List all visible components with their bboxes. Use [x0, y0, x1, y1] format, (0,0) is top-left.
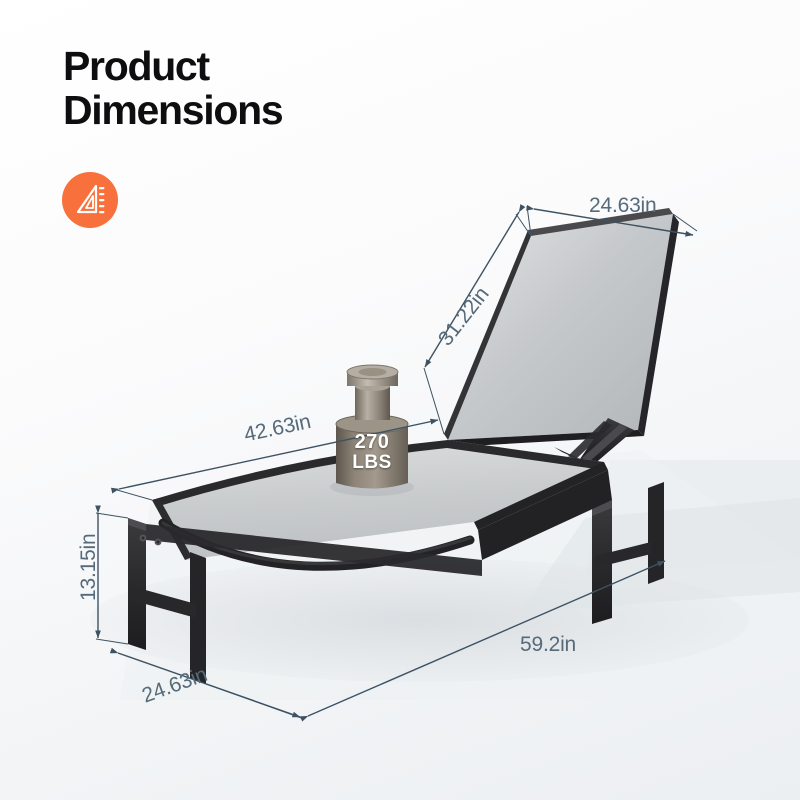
dimension-label-backrest-width: 24.63in [589, 194, 657, 218]
backrest [444, 208, 679, 447]
product-dimensions-infographic: Product Dimensions [0, 0, 800, 800]
weight-capacity-value: 270 [342, 432, 402, 452]
weight-capacity-unit: LBS [342, 453, 402, 473]
dimension-label-overall-height: 13.15in [77, 534, 101, 602]
chaise-lounge-illustration [0, 0, 800, 800]
dimension-label-overall-length: 59.2in [520, 633, 576, 657]
